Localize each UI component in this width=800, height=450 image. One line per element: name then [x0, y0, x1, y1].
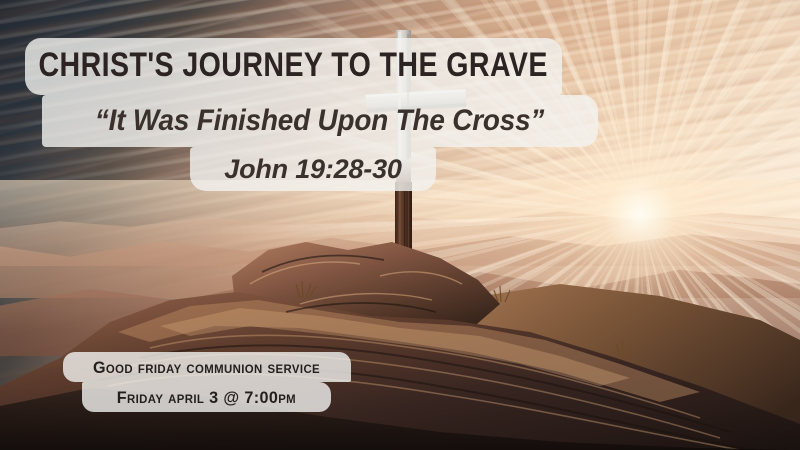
title-panel: CHRIST'S JOURNEY TO THE GRAVE	[25, 38, 562, 95]
scripture-reference: John 19:28-30	[224, 156, 401, 183]
event-name-panel: Good Friday Communion Service	[63, 352, 351, 382]
scripture-panel: John 19:28-30	[190, 147, 436, 191]
event-schedule: Friday April 3 @ 7:00PM	[117, 389, 296, 406]
subtitle-panel: “It Was Finished Upon The Cross”	[42, 95, 598, 147]
subtitle-text: “It Was Finished Upon The Cross”	[95, 106, 544, 136]
page-title: CHRIST'S JOURNEY TO THE GRAVE	[39, 48, 548, 82]
event-schedule-panel: Friday April 3 @ 7:00PM	[82, 382, 331, 412]
graphic-canvas: CHRIST'S JOURNEY TO THE GRAVE “It Was Fi…	[0, 0, 800, 450]
event-name: Good Friday Communion Service	[93, 359, 320, 376]
